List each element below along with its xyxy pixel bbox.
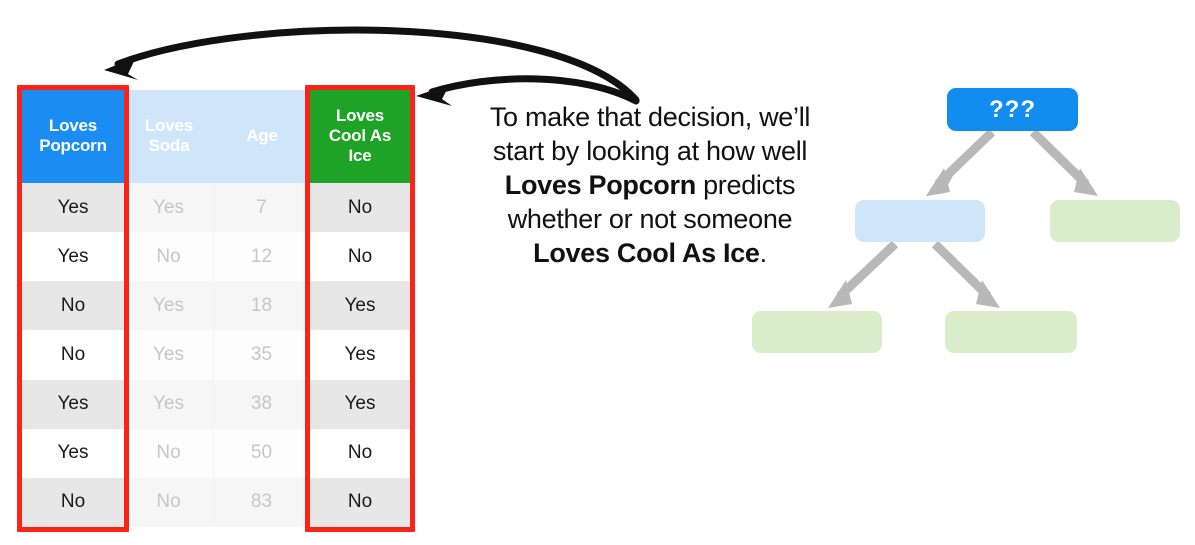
- tree-node-leaf-1[interactable]: [752, 311, 882, 353]
- callout-arrow-to-loves-popcorn: [104, 30, 636, 100]
- tree-arrow-left-to-leaf1: [828, 244, 895, 308]
- slide-canvas: LovesPopcorn Yes Yes No No Yes Yes No Lo…: [0, 0, 1195, 545]
- tree-node-right-child[interactable]: [1050, 200, 1180, 242]
- tree-node-root[interactable]: ???: [947, 88, 1078, 131]
- tree-node-leaf-2[interactable]: [945, 311, 1077, 353]
- tree-arrow-root-to-right: [1033, 132, 1098, 196]
- tree-arrow-left-to-leaf2: [935, 244, 1000, 308]
- tree-node-left-child[interactable]: [855, 200, 985, 242]
- caption-bold-loves-popcorn: Loves Popcorn: [505, 170, 696, 200]
- decision-tree-diagram: ???: [730, 70, 1195, 370]
- caption-bold-loves-cool-as-ice: Loves Cool As Ice: [533, 238, 759, 268]
- tree-arrow-root-to-left: [926, 132, 992, 196]
